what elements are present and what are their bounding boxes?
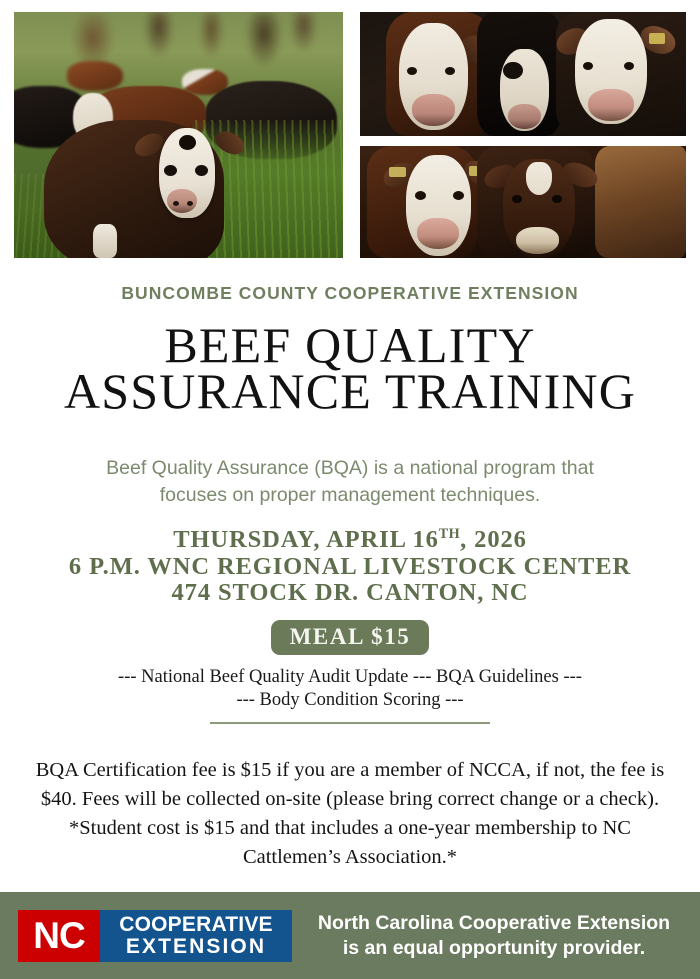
cow-icon-br3-body (595, 146, 686, 258)
nc-cooperative-extension-logo: NC COOPERATIVE EXTENSION (18, 910, 292, 962)
topics-line-2: --- Body Condition Scoring --- (24, 689, 676, 712)
cooperative-extension-wordmark: COOPERATIVE EXTENSION (100, 910, 292, 962)
flyer-page: BUNCOMBE COUNTY COOPERATIVE EXTENSION BE… (0, 0, 700, 979)
footer-content: NC COOPERATIVE EXTENSION North Carolina … (0, 892, 700, 979)
cow-icon-hero-white-leg (93, 224, 117, 258)
meal-badge-container: MEAL $15 (0, 620, 700, 655)
nc-monogram: NC (18, 910, 100, 962)
cow-icon-far-brown (67, 61, 123, 91)
cow-icon-tr1-eye-left (407, 67, 417, 75)
topics-line-1: --- National Beef Quality Audit Update -… (24, 666, 676, 689)
page-title-line-2: ASSURANCE TRAINING (0, 368, 700, 414)
cow-icon-tr3-eye-right (624, 62, 634, 70)
cow-icon-tr1-eye-right (445, 67, 455, 75)
photo-collage (14, 12, 686, 258)
ear-tag-icon-top (649, 33, 665, 44)
program-description: Beef Quality Assurance (BQA) is a nation… (44, 455, 656, 509)
photo-two-cattle (360, 146, 686, 258)
equal-opportunity-statement: North Carolina Cooperative Extension is … (292, 911, 700, 961)
page-title-line-1: BEEF QUALITY (0, 322, 700, 368)
cow-icon-tr3-muzzle (588, 89, 634, 121)
photo-three-cattle (360, 12, 686, 136)
section-divider (210, 722, 490, 724)
cow-icon-br1-eye-right (453, 191, 464, 200)
status-badge-meal-price: MEAL $15 (271, 620, 430, 655)
wordmark-line-extension: EXTENSION (126, 936, 266, 957)
event-date-year: , 2026 (460, 526, 527, 553)
cow-icon-tr2-muzzle (508, 104, 541, 129)
cow-icon-tr3-eye-left (583, 62, 593, 70)
cow-icon-br1-muzzle (417, 218, 459, 249)
topics-list: --- National Beef Quality Audit Update -… (24, 666, 676, 712)
certification-fee-paragraph: BQA Certification fee is $15 if you are … (30, 756, 670, 872)
program-description-line-1: Beef Quality Assurance (BQA) is a nation… (44, 455, 656, 482)
equal-opportunity-line-2: is an equal opportunity provider. (298, 936, 690, 961)
equal-opportunity-line-1: North Carolina Cooperative Extension (298, 911, 690, 936)
event-address: 474 STOCK DR. CANTON, NC (8, 580, 692, 607)
page-title: BEEF QUALITY ASSURANCE TRAINING (0, 322, 700, 414)
photo-pasture-herd (14, 12, 343, 258)
cow-icon-tr1-muzzle (412, 94, 454, 126)
cow-icon-tr2-patch (503, 62, 523, 79)
ear-tag-icon-left (389, 167, 405, 177)
footer-bar: NC COOPERATIVE EXTENSION North Carolina … (0, 892, 700, 979)
event-date: THURSDAY, APRIL 16TH, 2026 (8, 521, 692, 554)
cow-icon-hero-eye-left (164, 165, 177, 176)
cow-icon-hero-forehead-patch (179, 135, 196, 150)
event-date-ordinal: TH (439, 526, 460, 542)
wordmark-line-cooperative: COOPERATIVE (119, 914, 273, 935)
event-details: THURSDAY, APRIL 16TH, 2026 6 P.M. WNC RE… (8, 521, 692, 607)
event-date-main: THURSDAY, APRIL 16 (173, 526, 439, 553)
cow-icon-hero-eye-right (195, 165, 208, 176)
cow-icon-br2-muzzle (516, 227, 558, 254)
cow-icon-br2-eye-left (512, 195, 522, 203)
organization-kicker: BUNCOMBE COUNTY COOPERATIVE EXTENSION (0, 283, 700, 304)
program-description-line-2: focuses on proper management techniques. (44, 482, 656, 509)
event-time-venue: 6 P.M. WNC REGIONAL LIVESTOCK CENTER (8, 554, 692, 581)
